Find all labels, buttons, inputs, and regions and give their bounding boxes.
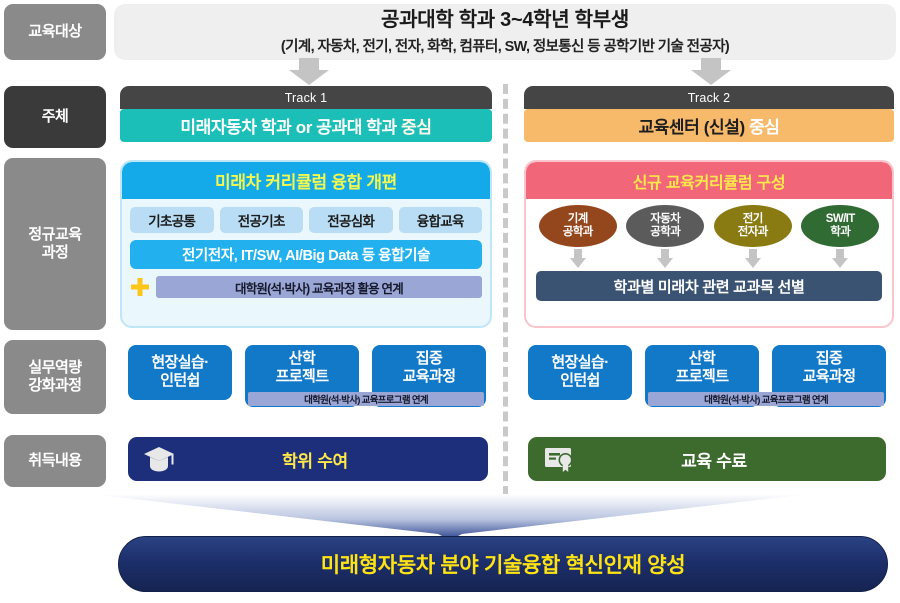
department-line1: 자동차 [650, 213, 680, 226]
curriculum-chip: 융합교육 [399, 207, 483, 233]
rail-label-line1: 실무역량 [28, 359, 81, 376]
practical-box-field-internship-t2: 현장실습· 인턴쉽 [528, 345, 632, 400]
practical-box-field-internship-t1: 현장실습· 인턴쉽 [128, 345, 232, 400]
department-line2: 공학과 [650, 226, 680, 239]
practical-line2: 프로젝트 [676, 368, 729, 385]
arrow-down-icon [656, 249, 674, 269]
page-subtitle: (기계, 자동차, 전기, 전자, 화학, 컴퓨터, SW, 정보통신 등 공학… [281, 35, 729, 56]
practical-label: 집중 교육과정 [803, 350, 856, 385]
track-tab-label: Track 1 [285, 91, 328, 105]
track-divider [503, 84, 508, 496]
practical-line2: 인턴쉽 [560, 372, 600, 389]
rail-practical-competency: 실무역량 강화과정 [4, 340, 106, 414]
department-line1: 기계 [568, 213, 588, 226]
track-2-tab: Track 2 [524, 86, 894, 109]
track2-curriculum-panel: 신규 교육커리큘럼 구성 기계 공학과 자동차 공학과 [524, 160, 894, 328]
rail-label-line2: 과정 [42, 244, 69, 261]
practical-line2: 인턴쉽 [160, 372, 200, 389]
curriculum-chip: 전공심화 [309, 207, 393, 233]
practical-line1: 현장실습· [151, 354, 208, 371]
graduate-linkage-row: 대학원(석·박사) 교육과정 활용 연계 [130, 276, 482, 298]
practical-label: 현장실습· 인턴쉽 [551, 354, 608, 389]
arrow-down-icon [744, 249, 762, 269]
practical-label: 현장실습· 인턴쉽 [151, 354, 208, 389]
practical-line2: 교육과정 [803, 368, 856, 385]
practical-label: 산학 프로젝트 [676, 350, 729, 385]
department-item: 자동차 공학과 [626, 205, 704, 269]
outcome-degree-award: 학위 수여 [128, 437, 488, 481]
department-line2: 학과 [830, 226, 850, 239]
curriculum-chip: 기초공통 [130, 207, 214, 233]
practical-line1: 집중 [416, 350, 442, 367]
department-row: 기계 공학과 자동차 공학과 전기 전자과 [526, 199, 892, 269]
rail-label-line1: 정규교육 [28, 226, 81, 243]
rail-label: 주체 [42, 108, 69, 126]
page-title: 공과대학 학과 3~4학년 학부생 [381, 9, 629, 32]
arrow-down-track1-icon [288, 58, 330, 86]
department-line1: 전기 [743, 213, 763, 226]
rail-education-target: 교육대상 [4, 4, 106, 60]
track-subject-main: 미래자동차 학과 or 공과대 학과 [180, 113, 396, 138]
practical-line1: 집중 [816, 350, 842, 367]
graduate-program-linkage-t1: 대학원(석·박사) 교육프로그램 연계 [248, 392, 484, 406]
track-subject-accent: 중심 [749, 113, 779, 138]
department-ellipse: SW/IT 학과 [801, 205, 879, 247]
curriculum-chip: 전공기초 [220, 207, 304, 233]
education-target-box: 공과대학 학과 3~4학년 학부생 (기계, 자동차, 전기, 전자, 화학, … [114, 4, 896, 60]
rail-subject: 주체 [4, 86, 106, 148]
track-subject-accent: 중심 [401, 113, 431, 138]
practical-line1: 현장실습· [551, 354, 608, 371]
department-line1: SW/IT [826, 213, 855, 226]
track1-curriculum-heading: 미래차 커리큘럼 융합 개편 [122, 162, 490, 199]
practical-line2: 교육과정 [403, 368, 456, 385]
convergence-technology-bar: 전기전자, IT/SW, AI/Big Data 등 융합기술 [130, 240, 482, 269]
practical-label: 산학 프로젝트 [276, 350, 329, 385]
rail-label: 교육대상 [28, 23, 81, 41]
outcome-course-completion: 교육 수료 [528, 437, 886, 481]
certificate-icon [542, 444, 576, 474]
practical-line1: 산학 [689, 350, 715, 367]
department-item: 기계 공학과 [539, 205, 617, 269]
track1-curriculum-panel: 미래차 커리큘럼 융합 개편 기초공통 전공기초 전공심화 융합교육 전기전자,… [120, 160, 492, 328]
final-goal-text: 미래형자동차 분야 기술융합 혁신인재 양성 [321, 549, 686, 579]
department-ellipse: 기계 공학과 [539, 205, 617, 247]
practical-line2: 프로젝트 [276, 368, 329, 385]
track-subject-main: 교육센터 (신설) [638, 113, 744, 138]
track2-curriculum-heading: 신규 교육커리큘럼 구성 [526, 162, 892, 199]
rail-label: 실무역량 강화과정 [28, 359, 81, 396]
department-ellipse: 전기 전자과 [714, 205, 792, 247]
department-item: 전기 전자과 [714, 205, 792, 269]
track1-chip-row: 기초공통 전공기초 전공심화 융합교육 [122, 199, 490, 233]
rail-label-line2: 강화과정 [28, 377, 81, 394]
department-item: SW/IT 학과 [801, 205, 879, 269]
final-goal-banner: 미래형자동차 분야 기술융합 혁신인재 양성 [118, 536, 888, 592]
graduate-linkage-label: 대학원(석·박사) 교육과정 활용 연계 [156, 276, 482, 298]
practical-label: 집중 교육과정 [403, 350, 456, 385]
arrow-down-track2-icon [690, 58, 732, 86]
arrow-down-icon [831, 249, 849, 269]
track-2-subject: 교육센터 (신설) 중심 [524, 109, 894, 142]
graduation-cap-icon [142, 444, 176, 474]
department-ellipse: 자동차 공학과 [626, 205, 704, 247]
practical-line1: 산학 [289, 350, 315, 367]
graduate-program-linkage-t2: 대학원(석·박사) 교육프로그램 연계 [648, 392, 884, 406]
track-tab-label: Track 2 [688, 91, 731, 105]
arrow-down-icon [569, 249, 587, 269]
outcome-label: 교육 수료 [576, 447, 852, 472]
rail-label: 정규교육 과정 [28, 226, 81, 263]
convergence-funnel-icon [90, 494, 810, 540]
outcome-label: 학위 수여 [176, 447, 454, 472]
department-line2: 공학과 [563, 226, 593, 239]
track-1-tab: Track 1 [120, 86, 492, 109]
subject-selection-bar: 학과별 미래차 관련 교과목 선별 [536, 271, 882, 301]
diagram-root: 교육대상 주체 정규교육 과정 실무역량 강화과정 취득내용 공과대학 학과 3… [0, 0, 900, 603]
track-1-subject: 미래자동차 학과 or 공과대 학과 중심 [120, 109, 492, 142]
rail-label: 취득내용 [28, 452, 81, 470]
department-line2: 전자과 [738, 226, 768, 239]
plus-icon [130, 277, 150, 297]
rail-regular-curriculum: 정규교육 과정 [4, 158, 106, 330]
rail-acquisition: 취득내용 [4, 435, 106, 487]
